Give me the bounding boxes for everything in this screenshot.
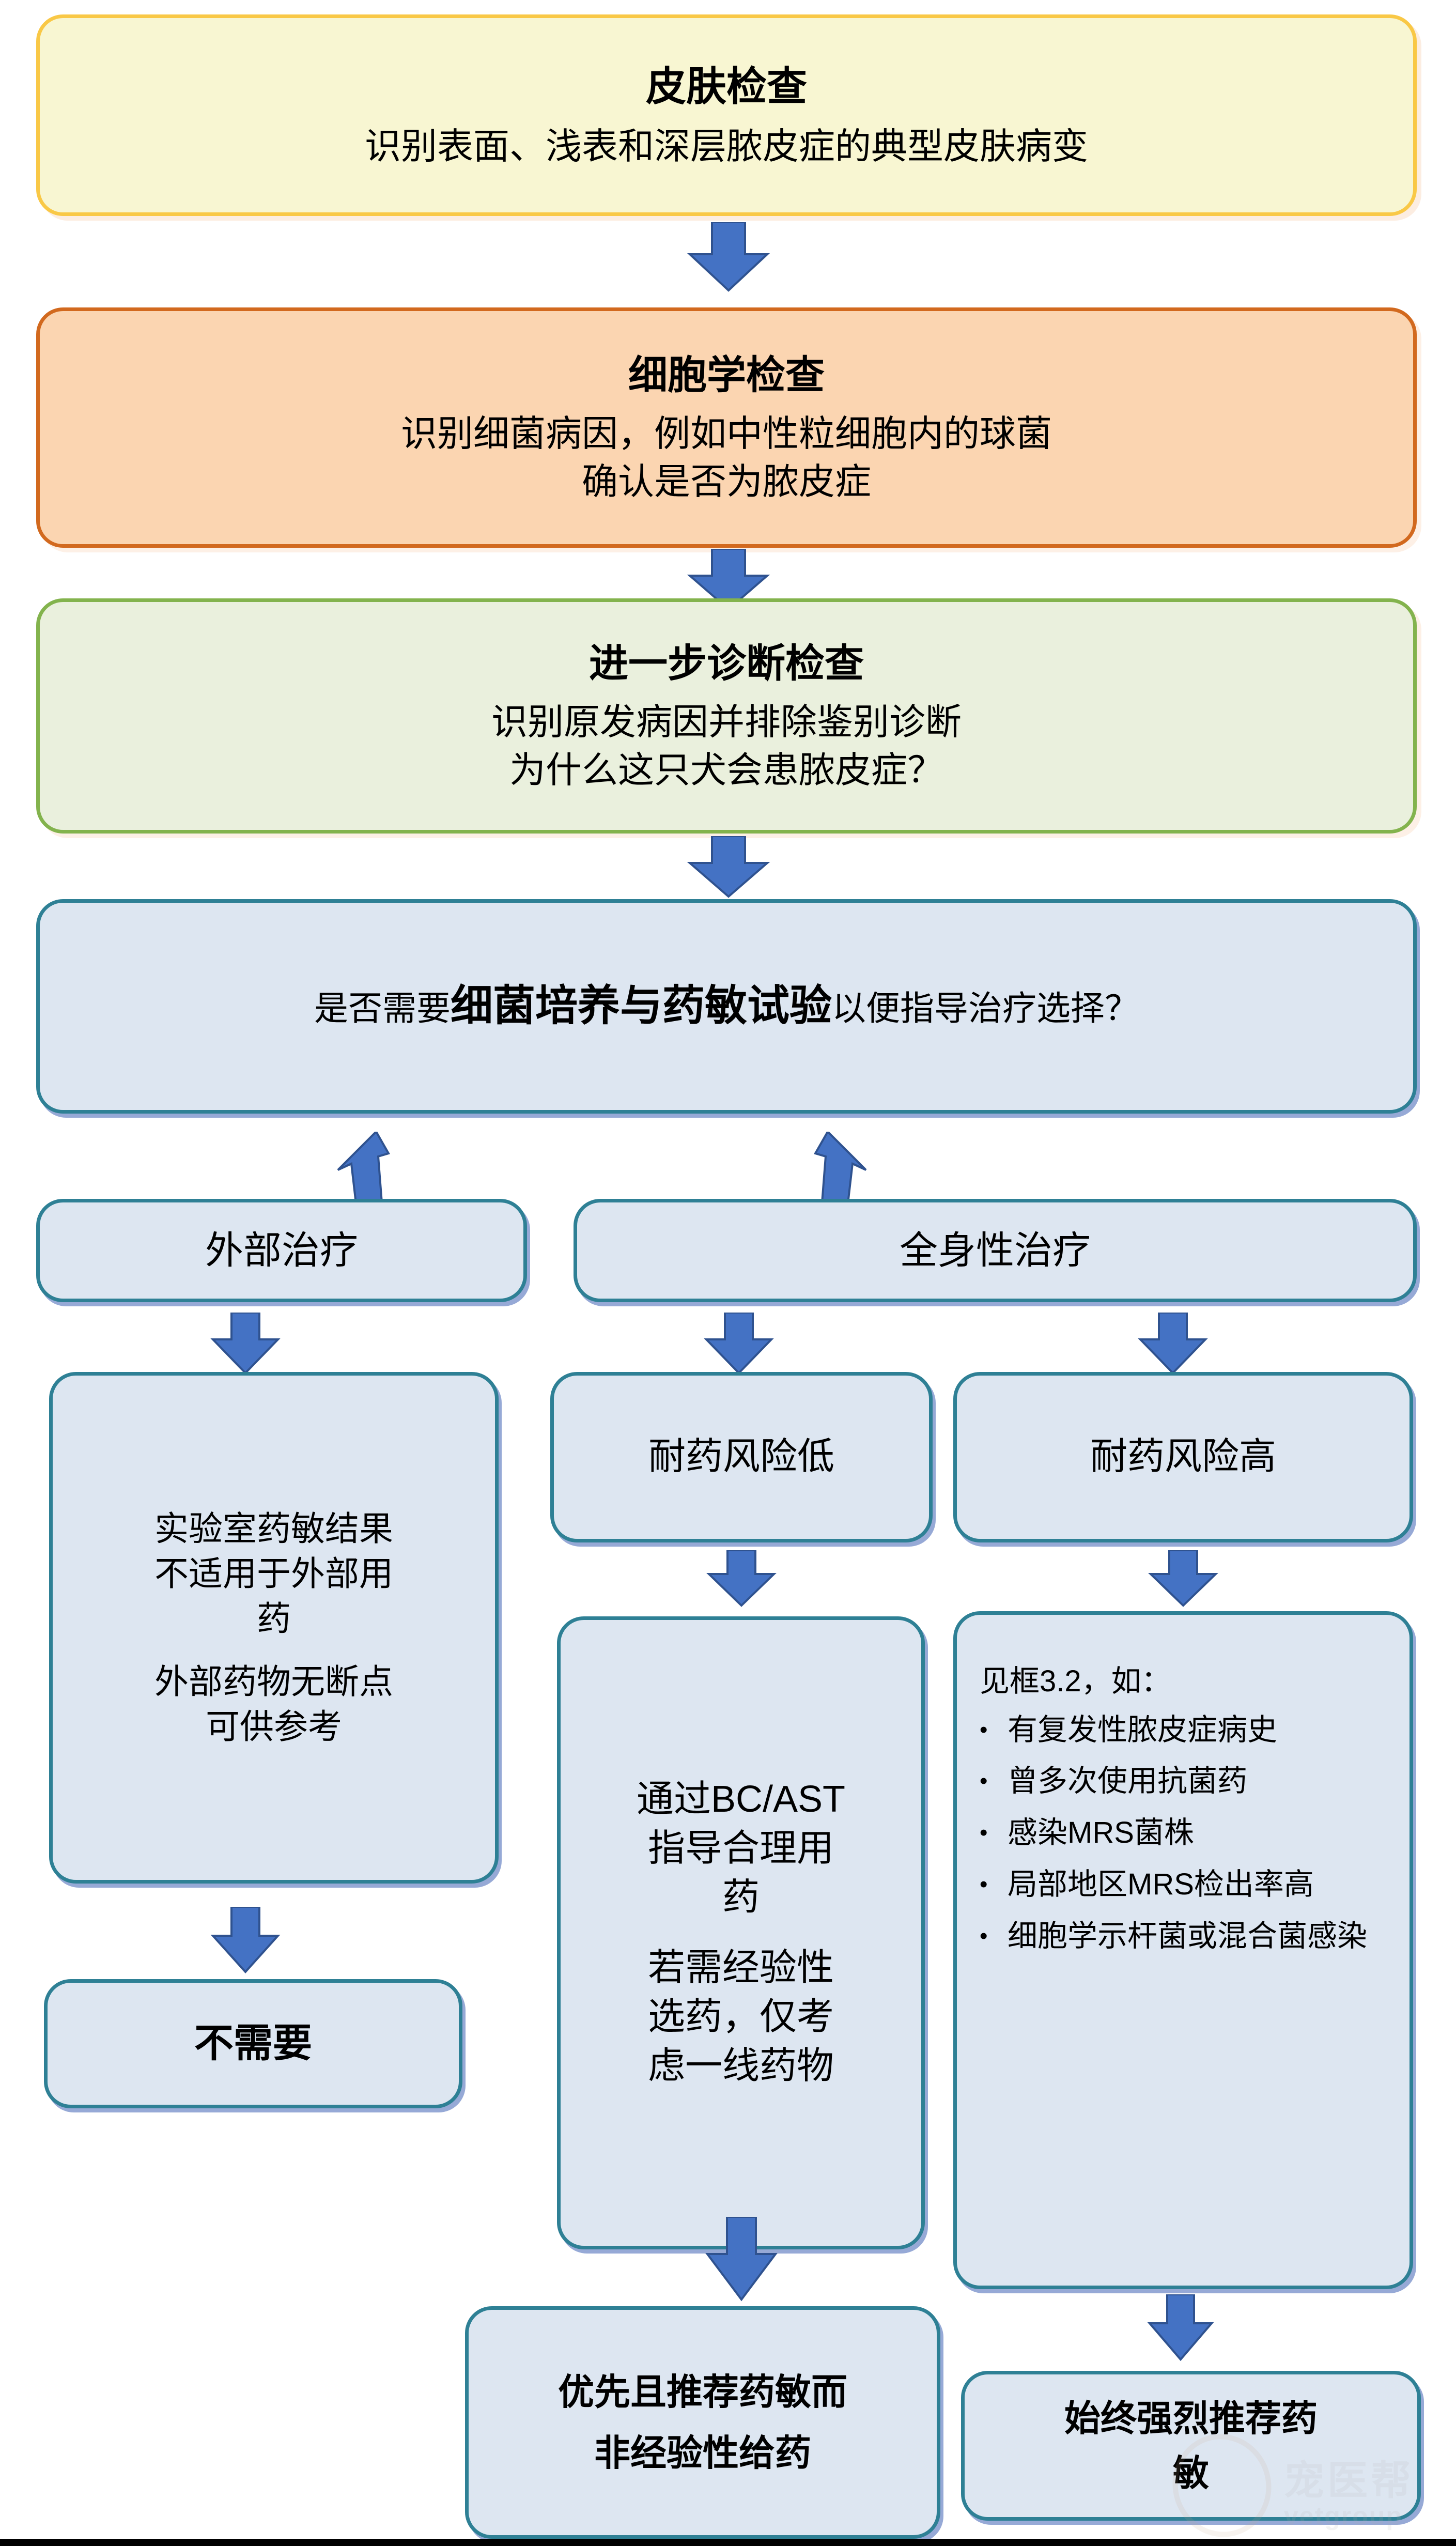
node-outcome-always-ast-line1: 始终强烈推荐药 [965, 2395, 1417, 2442]
risk-factors-list: 见框3.2，如： • 有复发性脓皮症病史 • 曾多次使用抗菌药 • 感染MRS菌… [957, 1615, 1409, 1967]
node-outcome-prefer-ast-line2: 非经验性给药 [469, 2429, 937, 2477]
bottom-black-strip [0, 2539, 1456, 2546]
arrow-high-risk-to-factors [1144, 1550, 1222, 1607]
arrow-skin-to-cytology [682, 222, 775, 292]
node-skin-exam: 皮肤检查 识别表面、浅表和深层脓皮症的典型皮肤病变 [36, 14, 1417, 216]
node-topical-detail-line4: 外部药物无断点 [53, 1659, 495, 1704]
node-skin-exam-title: 皮肤检查 [40, 60, 1413, 113]
bullet-icon: • [980, 1813, 1008, 1846]
node-low-resistance-risk-label: 耐药风险低 [648, 1432, 834, 1482]
node-systemic-therapy-label: 全身性治疗 [900, 1225, 1091, 1276]
node-systemic-therapy: 全身性治疗 [574, 1199, 1417, 1302]
risk-factor-text: 感染MRS菌株 [1008, 1813, 1385, 1853]
node-topical-detail: 实验室药敏结果 不适用于外部用 药 外部药物无断点 可供参考 [49, 1372, 499, 1884]
arrow-systemic-to-low-risk [700, 1313, 778, 1375]
list-item: • 曾多次使用抗菌药 [980, 1761, 1385, 1801]
node-bc-ast-line1: 通过BC/AST [561, 1775, 921, 1824]
list-item: • 细胞学示杆菌或混合菌感染 [980, 1916, 1385, 1956]
arrow-further-to-decision [682, 836, 775, 898]
node-topical-detail-line3: 药 [53, 1596, 495, 1641]
node-bc-ast-line3: 药 [561, 1873, 921, 1922]
node-further-diagnostics-title: 进一步诊断检查 [40, 638, 1413, 690]
node-cytology: 细胞学检查 识别细菌病因，例如中性粒细胞内的球菌 确认是否为脓皮症 [36, 307, 1417, 548]
risk-factor-text: 曾多次使用抗菌药 [1008, 1761, 1385, 1801]
list-item: • 感染MRS菌株 [980, 1813, 1385, 1853]
node-topical-detail-line1: 实验室药敏结果 [53, 1506, 495, 1551]
node-high-resistance-risk: 耐药风险高 [953, 1372, 1413, 1542]
node-outcome-always-ast: 始终强烈推荐药 敏 [961, 2371, 1421, 2521]
node-bc-ast-line2: 指导合理用 [561, 1824, 921, 1873]
bullet-icon: • [980, 1864, 1008, 1898]
bullet-icon: • [980, 1710, 1008, 1743]
arrow-systemic-to-high-risk [1134, 1313, 1212, 1375]
node-outcome-always-ast-line2: 敏 [965, 2449, 1417, 2497]
node-further-diagnostics: 进一步诊断检查 识别原发病因并排除鉴别诊断 为什么这只犬会患脓皮症？ [36, 598, 1417, 834]
bullet-icon: • [980, 1916, 1008, 1950]
node-bc-ast-line5: 选药，仅考 [561, 1993, 921, 2042]
node-cytology-line1: 识别细菌病因，例如中性粒细胞内的球菌 [40, 410, 1413, 457]
decision-emphasis: 细菌培养与药敏试验 [451, 982, 832, 1029]
risk-factor-text: 细胞学示杆菌或混合菌感染 [1008, 1916, 1385, 1956]
list-item: • 局部地区MRS检出率高 [980, 1864, 1385, 1905]
arrow-low-risk-to-bcast [703, 1550, 780, 1607]
node-culture-decision: 是否需要细菌培养与药敏试验以便指导治疗选择？ [36, 899, 1417, 1114]
node-cytology-line2: 确认是否为脓皮症 [40, 458, 1413, 505]
node-topical-therapy-label: 外部治疗 [205, 1225, 358, 1276]
node-further-diagnostics-line1: 识别原发病因并排除鉴别诊断 [40, 698, 1413, 746]
node-outcome-prefer-ast-line1: 优先且推荐药敏而 [469, 2368, 937, 2416]
node-bc-ast-line4: 若需经验性 [561, 1943, 921, 1993]
risk-factor-text: 有复发性脓皮症病史 [1008, 1710, 1385, 1750]
bullet-icon: • [980, 1761, 1008, 1795]
flowchart-canvas: 皮肤检查 识别表面、浅表和深层脓皮症的典型皮肤病变 细胞学检查 识别细菌病因，例… [0, 0, 1456, 2546]
node-bc-ast-line6: 虑一线药物 [561, 2042, 921, 2091]
node-outcome-prefer-ast: 优先且推荐药敏而 非经验性给药 [465, 2306, 940, 2539]
arrow-bcast-to-outcome [700, 2217, 783, 2302]
decision-suffix: 以便指导治疗选择？ [832, 989, 1139, 1027]
node-risk-factors: 见框3.2，如： • 有复发性脓皮症病史 • 曾多次使用抗菌药 • 感染MRS菌… [953, 1611, 1413, 2289]
node-cytology-title: 细胞学检查 [40, 350, 1413, 402]
node-not-needed: 不需要 [44, 1979, 462, 2108]
arrow-detail-to-not-needed [207, 1907, 284, 1974]
decision-prefix: 是否需要 [314, 989, 451, 1027]
node-topical-detail-line5: 可供参考 [53, 1704, 495, 1749]
node-further-diagnostics-line2: 为什么这只犬会患脓皮症？ [40, 746, 1413, 794]
node-skin-exam-subtitle: 识别表面、浅表和深层脓皮症的典型皮肤病变 [40, 122, 1413, 170]
arrow-topical-to-detail [207, 1313, 284, 1375]
node-high-resistance-risk-label: 耐药风险高 [1090, 1432, 1276, 1482]
risk-factors-heading: 见框3.2，如： [980, 1661, 1385, 1702]
risk-factor-text: 局部地区MRS检出率高 [1008, 1864, 1385, 1905]
node-topical-detail-line2: 不适用于外部用 [53, 1551, 495, 1596]
node-low-resistance-risk: 耐药风险低 [550, 1372, 933, 1542]
node-not-needed-label: 不需要 [194, 2018, 312, 2070]
arrow-factors-to-outcome [1144, 2294, 1217, 2362]
list-item: • 有复发性脓皮症病史 [980, 1710, 1385, 1750]
node-bc-ast-guidance: 通过BC/AST 指导合理用 药 若需经验性 选药，仅考 虑一线药物 [557, 1616, 925, 2249]
node-topical-therapy: 外部治疗 [36, 1199, 527, 1302]
